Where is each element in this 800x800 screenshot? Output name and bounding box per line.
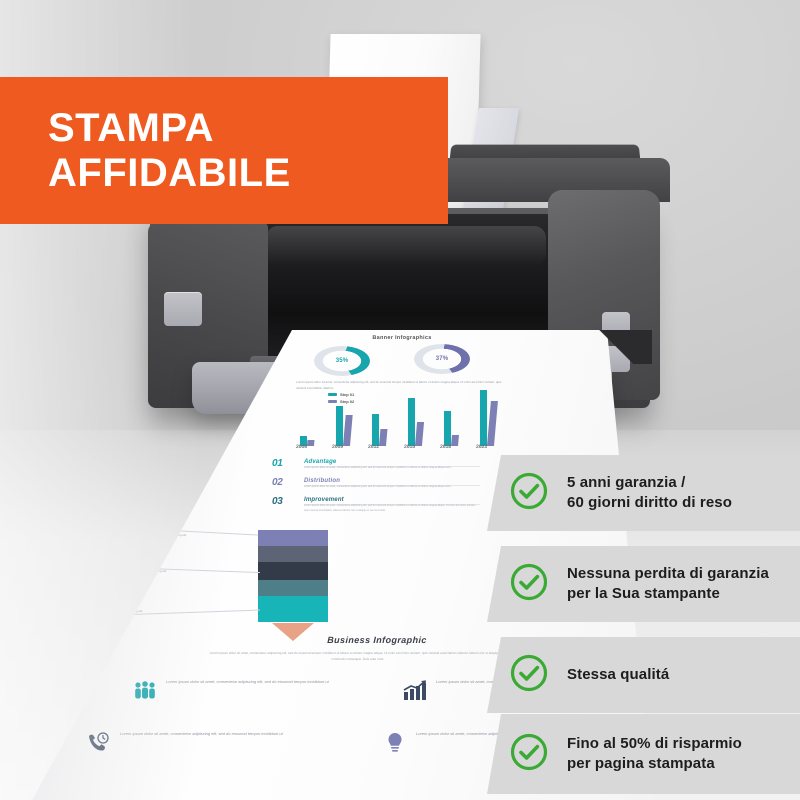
feature-box-label-1: 5 anni garanzia / 60 giorni diritto di r… xyxy=(567,473,732,513)
feature-box-label-4: Fino al 50% di risparmio per pagina stam… xyxy=(567,734,742,774)
pyramid-chart xyxy=(258,530,328,625)
x-tick-2006: 2006 xyxy=(296,444,307,450)
headline-line-1: STAMPA xyxy=(48,106,448,151)
business-infographic-title: Business Infographic xyxy=(262,635,492,645)
phone-clock-icon xyxy=(86,732,112,754)
donut-label-37: 37% xyxy=(414,344,470,374)
pyramid-segment-3 xyxy=(258,562,328,580)
step-number-01: 01 xyxy=(272,458,283,469)
headline-banner: STAMPA AFFIDABILE xyxy=(0,77,448,224)
pyramid-segment-4 xyxy=(258,580,328,596)
headline-line-2: AFFIDABILE xyxy=(48,151,448,196)
step-item-02: 02 Distribution Lorem ipsum dolor sit am… xyxy=(272,477,502,496)
printer-button-left[interactable] xyxy=(164,292,202,326)
check-circle-icon xyxy=(509,732,549,777)
donut-chart-35: 35% xyxy=(314,346,370,376)
check-circle-icon xyxy=(509,653,549,698)
pyramid-segment-5 xyxy=(258,596,328,622)
step-item-03: 03 Improvement Lorem ipsum dolor sit ame… xyxy=(272,496,502,515)
pyramid-segment-1 xyxy=(258,530,328,546)
printer-drum-highlight xyxy=(266,226,546,266)
donut-chart-group: 35% 37% xyxy=(304,344,494,380)
step-item-01: 01 Advantage Lorem ipsum dolor sit amet,… xyxy=(272,458,502,477)
bottom-feature-text-3: Lorem ipsum dolor sit amet, consectetur … xyxy=(120,730,306,738)
check-circle-icon xyxy=(509,471,549,516)
bottom-feature-text-1: Lorem ipsum dolor sit amet, consectetur … xyxy=(166,678,352,686)
people-group-icon xyxy=(132,680,158,702)
step-title-03: Improvement xyxy=(304,497,344,503)
sheet-corner-shadow xyxy=(556,330,652,364)
x-tick-2009: 2009 xyxy=(332,444,343,450)
bar-step-01-2015 xyxy=(408,398,415,446)
bar-chart-x-axis: 200620092012201520182023 xyxy=(296,444,526,456)
step-title-02: Distribution xyxy=(304,478,340,484)
bar-step-02-2023 xyxy=(487,401,498,446)
check-circle-icon xyxy=(509,562,549,607)
feature-box-4[interactable]: Fino al 50% di risparmio per pagina stam… xyxy=(487,714,800,794)
step-text-03: Lorem ipsum dolor sit amet, consectetur … xyxy=(304,504,480,514)
bar-step-01-2012 xyxy=(372,414,379,446)
bar-chart-plot xyxy=(300,388,520,446)
x-tick-2023: 2023 xyxy=(476,444,487,450)
feature-box-1[interactable]: 5 anni garanzia / 60 giorni diritto di r… xyxy=(487,455,800,531)
donut-label-35: 35% xyxy=(314,346,370,376)
feature-box-label-3: Stessa qualitá xyxy=(567,665,669,685)
feature-box-label-2: Nessuna perdita di garanzia per la Sua s… xyxy=(567,564,769,604)
bar-step-02-2009 xyxy=(343,415,353,446)
x-tick-2018: 2018 xyxy=(440,444,451,450)
pyramid-segment-2 xyxy=(258,546,328,562)
step-text-02: Lorem ipsum dolor sit amet, consectetur … xyxy=(304,485,480,490)
feature-box-2[interactable]: Nessuna perdita di garanzia per la Sua s… xyxy=(487,546,800,622)
donut-chart-37: 37% xyxy=(414,344,470,374)
x-tick-2015: 2015 xyxy=(404,444,415,450)
business-infographic-text: Lorem ipsum dolor sit amet, consectetur … xyxy=(208,650,508,662)
promo-scene: Banner Infographics 35% 37% Lorem ipsum … xyxy=(0,0,800,800)
bar-step-01-2018 xyxy=(444,411,451,446)
x-tick-2012: 2012 xyxy=(368,444,379,450)
step-title-01: Advantage xyxy=(304,459,336,465)
feature-box-3[interactable]: Stessa qualitá xyxy=(487,637,800,713)
step-text-01: Lorem ipsum dolor sit amet, consectetur … xyxy=(304,466,480,471)
bar-step-01-2023 xyxy=(480,390,487,446)
step-number-02: 02 xyxy=(272,477,283,488)
infographic-title: Banner Infographics xyxy=(312,335,492,341)
numbered-steps-list: 01 Advantage Lorem ipsum dolor sit amet,… xyxy=(272,458,502,515)
bar-step-02-2015 xyxy=(415,422,424,446)
step-number-03: 03 xyxy=(272,496,283,507)
lightbulb-icon xyxy=(382,732,408,754)
bar-step-01-2009 xyxy=(336,406,343,446)
bar-chart-growth-icon xyxy=(402,680,428,702)
